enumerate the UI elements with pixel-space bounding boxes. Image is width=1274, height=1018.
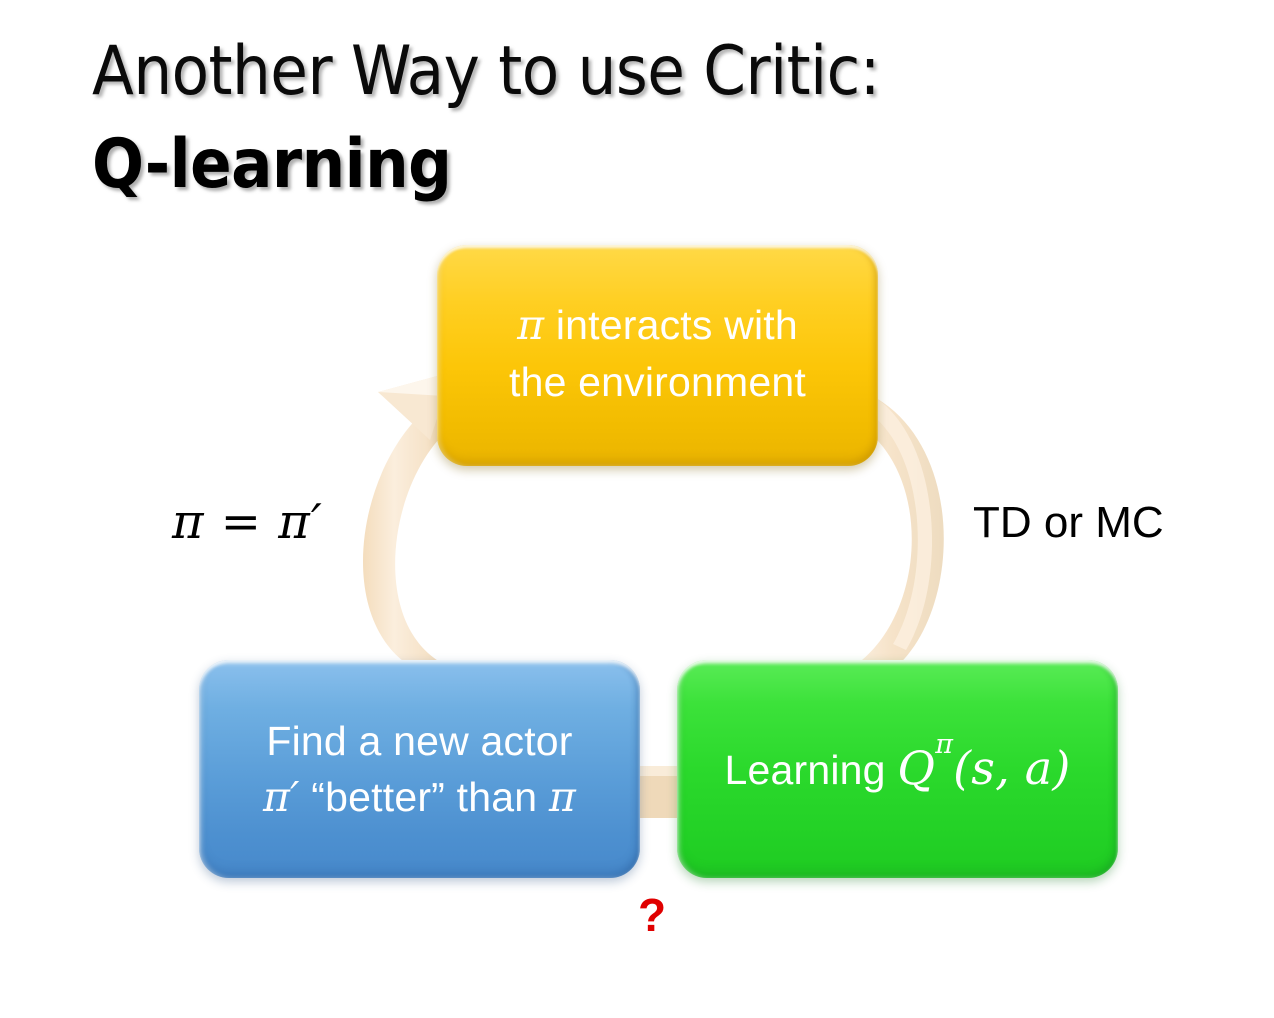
pi-symbol: π [517,301,544,349]
edge-label-pi-equals: π = π′ [172,494,323,550]
node-find-actor-line2-mid: “better” than [300,774,549,820]
slide-title-block: Another Way to use Critic: Q-learning [92,36,1192,201]
q-superscript-pi: π [935,729,953,760]
node-find-actor-label: Find a new actor π′ “better” than π [263,713,576,825]
pi-symbol-2: π [549,773,576,821]
node-environment-line2: the environment [509,359,806,405]
slide-canvas: Another Way to use Critic: Q-learning [0,0,1274,1018]
node-environment-line1-rest: interacts with [544,302,798,348]
node-learning-q-prefix: Learning [724,747,897,793]
edge-label-td-or-mc: TD or MC [973,498,1164,548]
node-learning-q[interactable]: Learning Qπ(s, a) [677,660,1118,878]
page-title: Another Way to use Critic: [92,36,1192,107]
q-arguments: (s, a) [953,741,1070,795]
node-find-actor-line1: Find a new actor [266,718,572,764]
q-symbol: Q [897,741,935,795]
page-subtitle: Q-learning [92,129,1192,200]
node-environment-label: π interacts with the environment [509,297,806,413]
pi-prime-symbol: π′ [263,773,300,821]
node-find-actor[interactable]: Find a new actor π′ “better” than π [199,660,640,878]
node-environment[interactable]: π interacts with the environment [437,245,878,466]
question-mark-annotation: ? [638,892,666,938]
node-learning-q-label: Learning Qπ(s, a) [724,737,1070,800]
